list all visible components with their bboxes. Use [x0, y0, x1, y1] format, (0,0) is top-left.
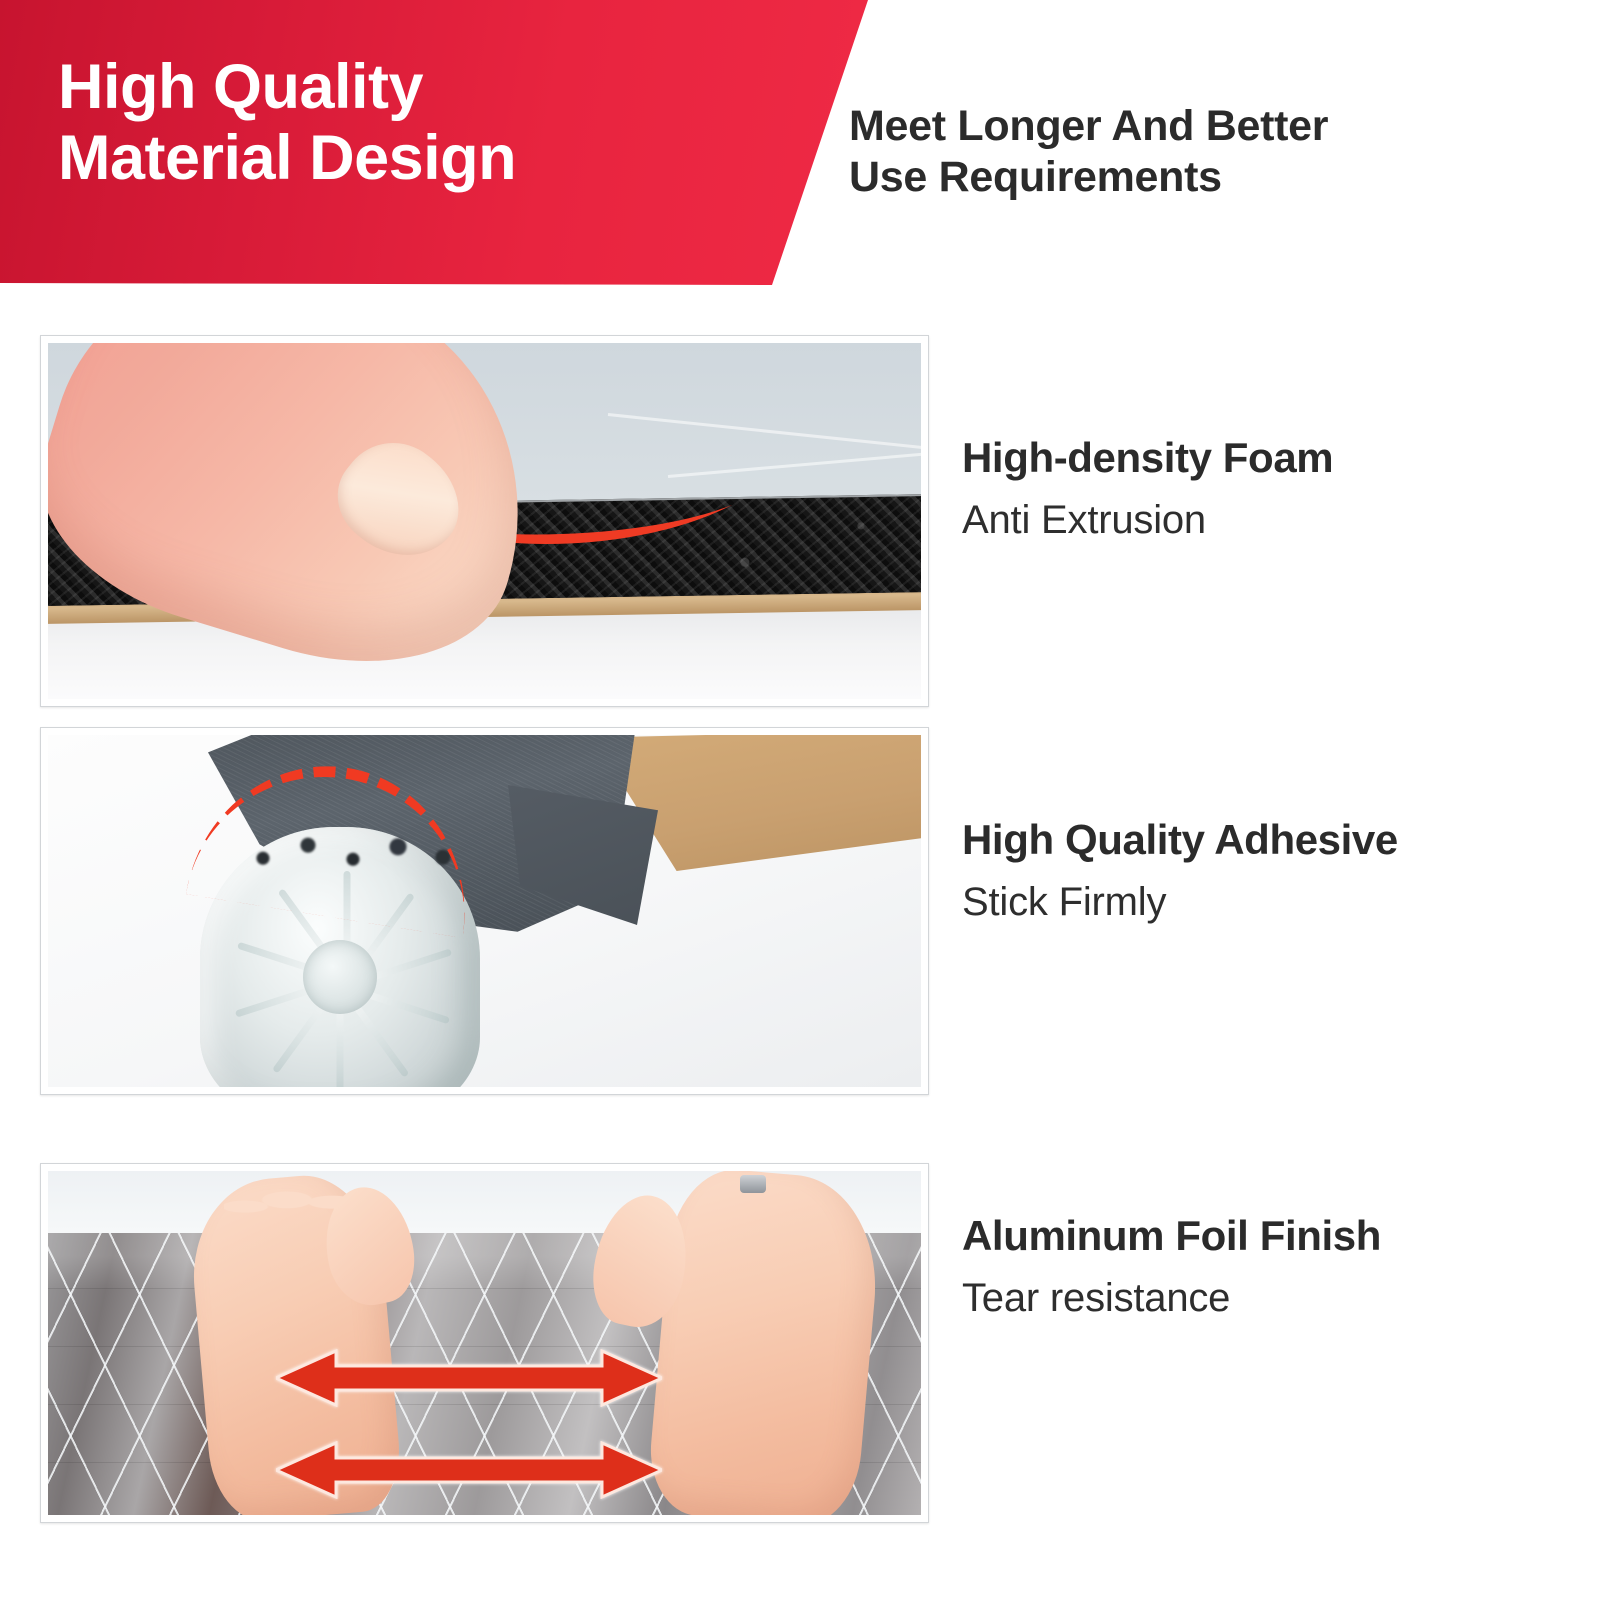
photo-frame-foil [40, 1163, 929, 1523]
feature-subtitle-1: Stick Firmly [962, 877, 1600, 927]
feature-subtitle-0: Anti Extrusion [962, 495, 1600, 545]
banner-title: High Quality Material Design [58, 52, 758, 193]
header-subtitle-line-2: Use Requirements [849, 152, 1549, 203]
photo-foil-stretching [48, 1171, 921, 1515]
bottle-center-hub [303, 940, 377, 1014]
photo-foam-pressing [48, 343, 921, 699]
red-double-arrow-bottom [276, 1441, 662, 1499]
header-subtitle-line-1: Meet Longer And Better [849, 101, 1549, 152]
header-subtitle: Meet Longer And Better Use Requirements [849, 101, 1549, 202]
finger-ring [740, 1175, 766, 1193]
banner-title-line-1: High Quality [58, 52, 758, 123]
photo-frame-foam [40, 335, 929, 707]
red-double-arrow-top [276, 1349, 662, 1407]
photo-frame-adhesive [40, 727, 929, 1095]
page-header: High Quality Material Design Meet Longer… [0, 0, 1600, 300]
banner-title-line-2: Material Design [58, 123, 758, 194]
feature-title-2: Aluminum Foil Finish [962, 1213, 1600, 1259]
feature-text-block-2: Aluminum Foil Finish Tear resistance [962, 1213, 1600, 1323]
feature-row-aluminum-foil-finish: Aluminum Foil Finish Tear resistance [0, 1163, 1600, 1523]
feature-row-high-quality-adhesive: High Quality Adhesive Stick Firmly [0, 727, 1600, 1095]
white-base-surface [48, 609, 921, 699]
right-hand [645, 1171, 885, 1515]
feature-title-0: High-density Foam [962, 435, 1600, 481]
fingernail [319, 421, 481, 580]
photo-adhesive-bottle [48, 735, 921, 1087]
feature-title-1: High Quality Adhesive [962, 817, 1600, 863]
feature-text-block-1: High Quality Adhesive Stick Firmly [962, 817, 1600, 927]
feature-text-block-0: High-density Foam Anti Extrusion [962, 435, 1600, 545]
feature-subtitle-2: Tear resistance [962, 1273, 1600, 1323]
feature-row-high-density-foam: High-density Foam Anti Extrusion [0, 335, 1600, 707]
